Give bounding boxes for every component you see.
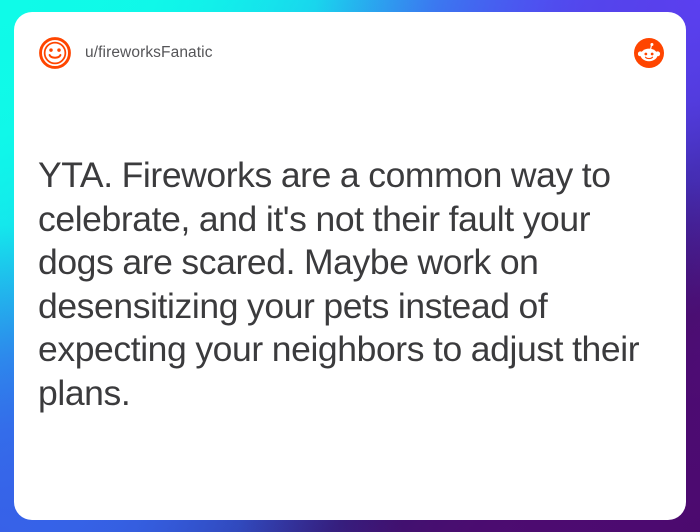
author-name: u/fireworksFanatic [85,44,213,62]
author-block[interactable]: u/fireworksFanatic [38,36,213,70]
card-header: u/fireworksFanatic [14,12,686,94]
card-body: YTA. Fireworks are a common way to celeb… [38,154,646,415]
reddit-snoo-logo-icon[interactable] [634,38,664,68]
gradient-background: u/fireworksFanatic YTA. Fireworks [0,0,700,532]
quote-text: YTA. Fireworks are a common way to celeb… [38,154,646,415]
reddit-comment-card: u/fireworksFanatic YTA. Fireworks [14,12,686,520]
smiley-face-avatar-icon[interactable] [38,36,72,70]
